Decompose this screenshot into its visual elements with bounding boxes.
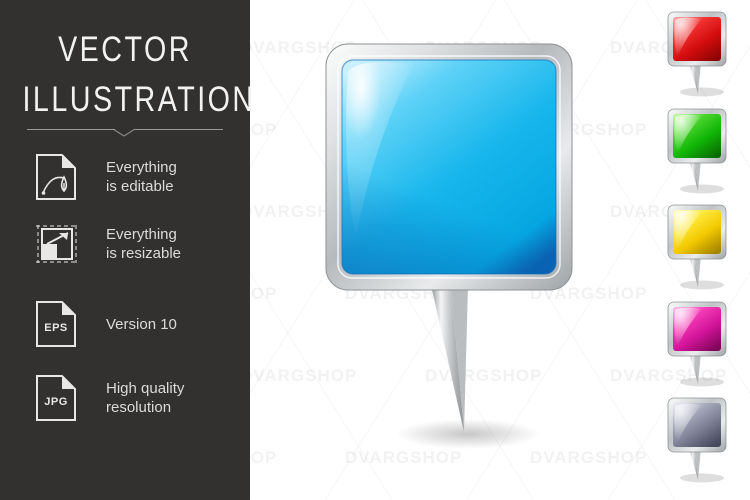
pin-ground-shadow [396,419,540,449]
feature-label: Everything is resizable [106,225,181,263]
eps-file-icon-text: EPS [44,322,68,334]
feature-row-resizable: Everything is resizable [34,220,234,268]
feature-label: High quality resolution [106,379,184,417]
pin-ground-shadow [680,378,724,387]
watermark-text: DVARGSHOP [250,448,277,468]
pin-ground-shadow [680,474,724,483]
pin-gray [662,392,738,484]
divider-line-right [135,129,223,130]
feature-label: Everything is editable [106,158,177,196]
jpg-file-icon-text: JPG [44,396,68,408]
pin-ground-shadow [680,88,724,97]
info-panel: VECTOR ILLUSTRATION [0,0,250,500]
pin-red [662,6,738,98]
watermark-text: DVARGSHOP [250,284,277,304]
page-title-line1: VECTOR [23,30,228,70]
feature-row-eps: EPS Version 10 [34,300,234,348]
page-title-line2: ILLUSTRATION [23,80,228,120]
pin-green [662,103,738,195]
feature-label: Version 10 [106,315,177,334]
feature-row-jpg: JPG High quality resolution [34,374,234,422]
jpg-file-icon: JPG [34,374,78,422]
divider-line-left [27,129,115,130]
resize-arrow-crop-icon [34,220,78,268]
watermark-text: DVARGSHOP [250,120,277,140]
pin-magenta [662,296,738,388]
document-pen-curve-icon [34,153,78,201]
title-divider [27,129,223,143]
square-map-pin-blue [318,30,598,460]
feature-row-editable: Everything is editable [34,153,234,201]
illustration-canvas: DVARGSHOP DVARGSHOP DVARGSHOP DVARGSHOP … [0,0,750,500]
chevron-down-icon [113,125,135,137]
pin-yellow [662,199,738,291]
pin-ground-shadow [680,281,724,290]
pin-ground-shadow [680,185,724,194]
eps-file-icon: EPS [34,300,78,348]
